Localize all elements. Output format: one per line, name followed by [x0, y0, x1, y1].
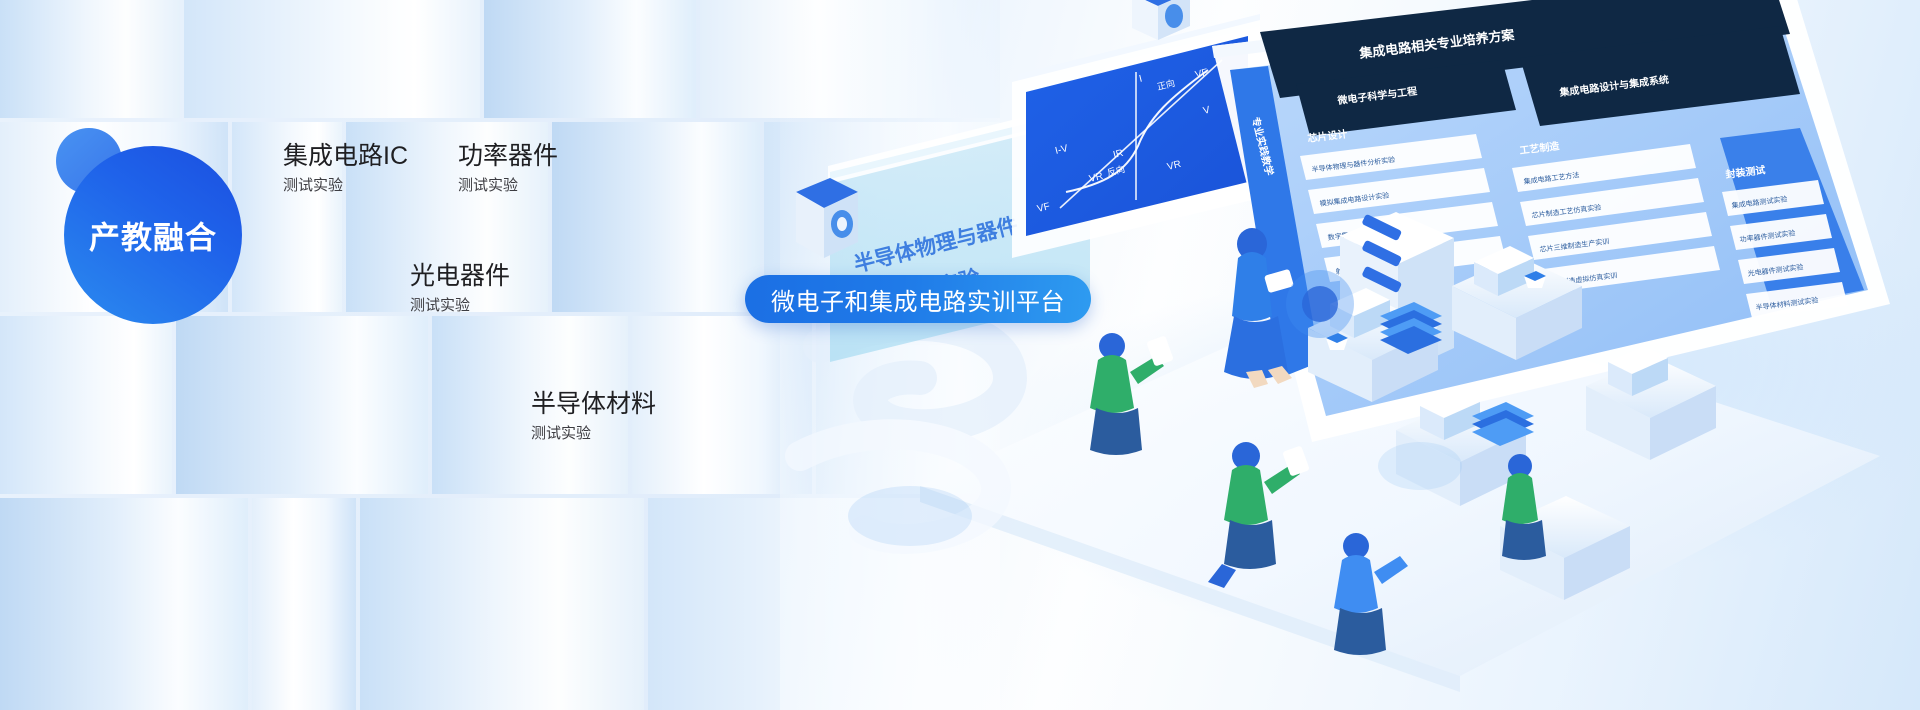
bg-tile [176, 316, 428, 494]
bg-tile [484, 0, 696, 118]
badge-label: 产教融合 [64, 213, 242, 258]
feature-title: 光电器件 [410, 260, 510, 292]
feature-subtitle: 测试实验 [531, 423, 656, 446]
feature-title: 功率器件 [458, 140, 558, 172]
platform-pill-label: 微电子和集成电路实训平台 [771, 282, 1065, 317]
bg-tile [184, 0, 480, 118]
bg-tile [0, 316, 172, 494]
bg-tile [552, 122, 760, 312]
feature-subtitle: 测试实验 [458, 175, 558, 198]
feature-subtitle: 测试实验 [410, 295, 510, 318]
industry-education-badge[interactable]: 产教融合 [54, 128, 250, 324]
projector-pedestal-left [796, 178, 858, 258]
bg-tile [252, 498, 356, 710]
feature-item-semiconductor-material[interactable]: 半导体材料 测试实验 [531, 388, 656, 446]
bg-tile [360, 498, 644, 710]
feature-item-ic[interactable]: 集成电路IC 测试实验 [283, 140, 408, 198]
feature-subtitle: 测试实验 [283, 175, 408, 198]
feature-item-power-device[interactable]: 功率器件 测试实验 [458, 140, 558, 198]
platform-pill-badge[interactable]: 微电子和集成电路实训平台 [745, 275, 1091, 323]
badge-main-circle: 产教融合 [64, 146, 242, 324]
bg-tile [0, 498, 248, 710]
bg-tile [0, 0, 180, 118]
isometric-classroom-illustration: 半导体物理与器件 分析实验 I V 正向 反向 VF VR [760, 0, 1920, 710]
feature-title: 集成电路IC [283, 140, 408, 172]
banner-stage: 半导体物理与器件 分析实验 I V 正向 反向 VF VR [0, 0, 1920, 710]
feature-item-optoelectronic[interactable]: 光电器件 测试实验 [410, 260, 510, 318]
feature-title: 半导体材料 [531, 388, 656, 420]
